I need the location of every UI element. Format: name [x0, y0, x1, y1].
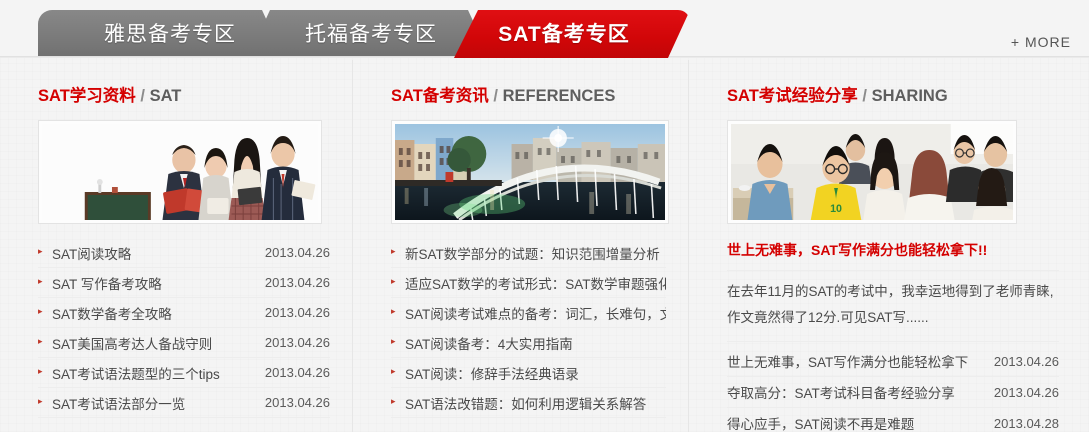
- bullet-arrow-icon: ▸: [38, 247, 52, 256]
- column-3-thumbnail-frame[interactable]: 10: [727, 120, 1017, 224]
- bullet-arrow-icon: ▸: [38, 397, 52, 406]
- students-with-books-photo: [42, 124, 318, 220]
- column-3-title: SAT考试经验分享 / SHARING: [727, 60, 1059, 116]
- column-references: SAT备考资讯 / REFERENCES: [352, 60, 688, 432]
- list-item-date: 2013.04.26: [986, 385, 1059, 400]
- bullet-arrow-icon: ▸: [38, 307, 52, 316]
- list-item[interactable]: 夺取高分：SAT考试科目备考经验分享 2013.04.26: [727, 377, 1059, 408]
- list-item-text: SAT美国高考达人备战守则: [52, 333, 257, 353]
- page-root: 雅思备考专区 托福备考专区 SAT备考专区 + MORE SAT学习资料 / S…: [0, 0, 1089, 432]
- bullet-arrow-icon: ▸: [391, 367, 405, 376]
- list-item-date: 2013.04.26: [257, 245, 330, 260]
- list-item-text: 得心应手，SAT阅读不再是难题: [727, 413, 986, 432]
- list-item-date: 2013.04.26: [257, 305, 330, 320]
- list-item[interactable]: ▸ SAT考试语法题型的三个tips 2013.04.26: [38, 358, 330, 388]
- list-item-text: SAT阅读：修辞手法经典语录: [405, 363, 666, 383]
- tab-ielts-label: 雅思备考专区: [86, 18, 236, 50]
- list-item-text: SAT阅读备考：4大实用指南: [405, 333, 666, 353]
- list-item-date: 2013.04.26: [257, 275, 330, 290]
- classroom-students-photo: 10: [731, 124, 1013, 220]
- featured-article-excerpt: 在去年11月的SAT的考试中，我幸运地得到了老师青睐,作文竟然得了12分.可见S…: [727, 271, 1059, 342]
- list-item-text: SAT阅读攻略: [52, 243, 257, 263]
- list-item[interactable]: ▸ SAT考试语法部分一览 2013.04.26: [38, 388, 330, 418]
- list-item[interactable]: 得心应手，SAT阅读不再是难题 2013.04.28: [727, 408, 1059, 432]
- bullet-arrow-icon: ▸: [38, 337, 52, 346]
- list-item[interactable]: 世上无难事，SAT写作满分也能轻松拿下 2013.04.26: [727, 346, 1059, 377]
- list-item[interactable]: ▸ SAT数学备考全攻略 2013.04.26: [38, 298, 330, 328]
- column-3-title-cn: SAT考试经验分享: [727, 87, 858, 105]
- tab-bar: 雅思备考专区 托福备考专区 SAT备考专区 + MORE: [0, 0, 1089, 58]
- list-item-date: 2013.04.26: [257, 365, 330, 380]
- column-1-title-separator: /: [140, 87, 145, 105]
- list-item[interactable]: ▸ SAT阅读：修辞手法经典语录: [391, 358, 666, 388]
- list-item[interactable]: ▸ SAT美国高考达人备战守则 2013.04.26: [38, 328, 330, 358]
- svg-text:10: 10: [830, 203, 842, 215]
- column-3-title-en: SHARING: [872, 87, 948, 105]
- bullet-arrow-icon: ▸: [391, 397, 405, 406]
- list-item-text: 新SAT数学部分的试题：知识范围增量分析: [405, 243, 666, 263]
- list-item-date: 2013.04.26: [257, 335, 330, 350]
- more-link[interactable]: + MORE: [1011, 34, 1071, 50]
- column-1-title-en: SAT: [150, 87, 182, 105]
- bullet-arrow-icon: ▸: [391, 247, 405, 256]
- bullet-arrow-icon: ▸: [391, 337, 405, 346]
- list-item-text: 世上无难事，SAT写作满分也能轻松拿下: [727, 351, 986, 371]
- column-sharing: SAT考试经验分享 / SHARING: [688, 60, 1089, 432]
- list-item[interactable]: ▸ 新SAT数学部分的试题：知识范围增量分析: [391, 238, 666, 268]
- list-item-text: SAT阅读考试难点的备考：词汇，长难句，文章体: [405, 303, 666, 323]
- bullet-arrow-icon: ▸: [38, 367, 52, 376]
- list-item-text: SAT考试语法题型的三个tips: [52, 363, 257, 383]
- bullet-arrow-icon: ▸: [391, 307, 405, 316]
- column-1-title-cn: SAT学习资料: [38, 87, 136, 105]
- tab-sat-label: SAT备考专区: [498, 18, 645, 50]
- column-2-link-list: ▸ 新SAT数学部分的试题：知识范围增量分析 ▸ 适应SAT数学的考试形式：SA…: [391, 238, 666, 418]
- list-item-date: 2013.04.26: [257, 395, 330, 410]
- featured-article-title[interactable]: 世上无难事，SAT写作满分也能轻松拿下!!: [727, 224, 1059, 271]
- list-item[interactable]: ▸ SAT阅读考试难点的备考：词汇，长难句，文章体: [391, 298, 666, 328]
- bullet-arrow-icon: ▸: [391, 277, 405, 286]
- tab-sat[interactable]: SAT备考专区: [454, 10, 690, 58]
- bullet-arrow-icon: ▸: [38, 277, 52, 286]
- list-item-text: 夺取高分：SAT考试科目备考经验分享: [727, 382, 986, 402]
- list-item[interactable]: ▸ 适应SAT数学的考试形式：SAT数学审题强化训练: [391, 268, 666, 298]
- list-item[interactable]: ▸ SAT 写作备考攻略 2013.04.26: [38, 268, 330, 298]
- tab-ielts[interactable]: 雅思备考专区: [38, 10, 284, 58]
- list-item[interactable]: ▸ SAT阅读攻略 2013.04.26: [38, 238, 330, 268]
- column-2-title-cn: SAT备考资讯: [391, 87, 489, 105]
- column-1-thumbnail-frame[interactable]: [38, 120, 322, 224]
- column-3-link-list: 世上无难事，SAT写作满分也能轻松拿下 2013.04.26 夺取高分：SAT考…: [727, 346, 1059, 432]
- column-1-link-list: ▸ SAT阅读攻略 2013.04.26 ▸ SAT 写作备考攻略 2013.0…: [38, 238, 330, 418]
- column-1-title: SAT学习资料 / SAT: [38, 60, 330, 116]
- content-columns: SAT学习资料 / SAT: [0, 60, 1089, 432]
- column-2-title-separator: /: [493, 87, 498, 105]
- list-item-text: SAT数学备考全攻略: [52, 303, 257, 323]
- list-item[interactable]: ▸ SAT语法改错题：如何利用逻辑关系解答: [391, 388, 666, 418]
- dublin-hapenny-bridge-photo: [395, 124, 665, 220]
- list-item-date: 2013.04.26: [986, 354, 1059, 369]
- tab-toefl[interactable]: 托福备考专区: [248, 10, 490, 58]
- list-item-text: SAT 写作备考攻略: [52, 273, 257, 293]
- list-item-text: SAT语法改错题：如何利用逻辑关系解答: [405, 393, 666, 413]
- list-item-text: 适应SAT数学的考试形式：SAT数学审题强化训练: [405, 273, 666, 293]
- list-item-date: 2013.04.28: [986, 416, 1059, 431]
- column-2-title-en: REFERENCES: [503, 87, 616, 105]
- column-2-title: SAT备考资讯 / REFERENCES: [391, 60, 666, 116]
- list-item[interactable]: ▸ SAT阅读备考：4大实用指南: [391, 328, 666, 358]
- list-item-text: SAT考试语法部分一览: [52, 393, 257, 413]
- tab-toefl-label: 托福备考专区: [301, 18, 437, 50]
- column-study-materials: SAT学习资料 / SAT: [0, 60, 352, 432]
- column-2-thumbnail-frame[interactable]: [391, 120, 669, 224]
- column-3-title-separator: /: [862, 87, 867, 105]
